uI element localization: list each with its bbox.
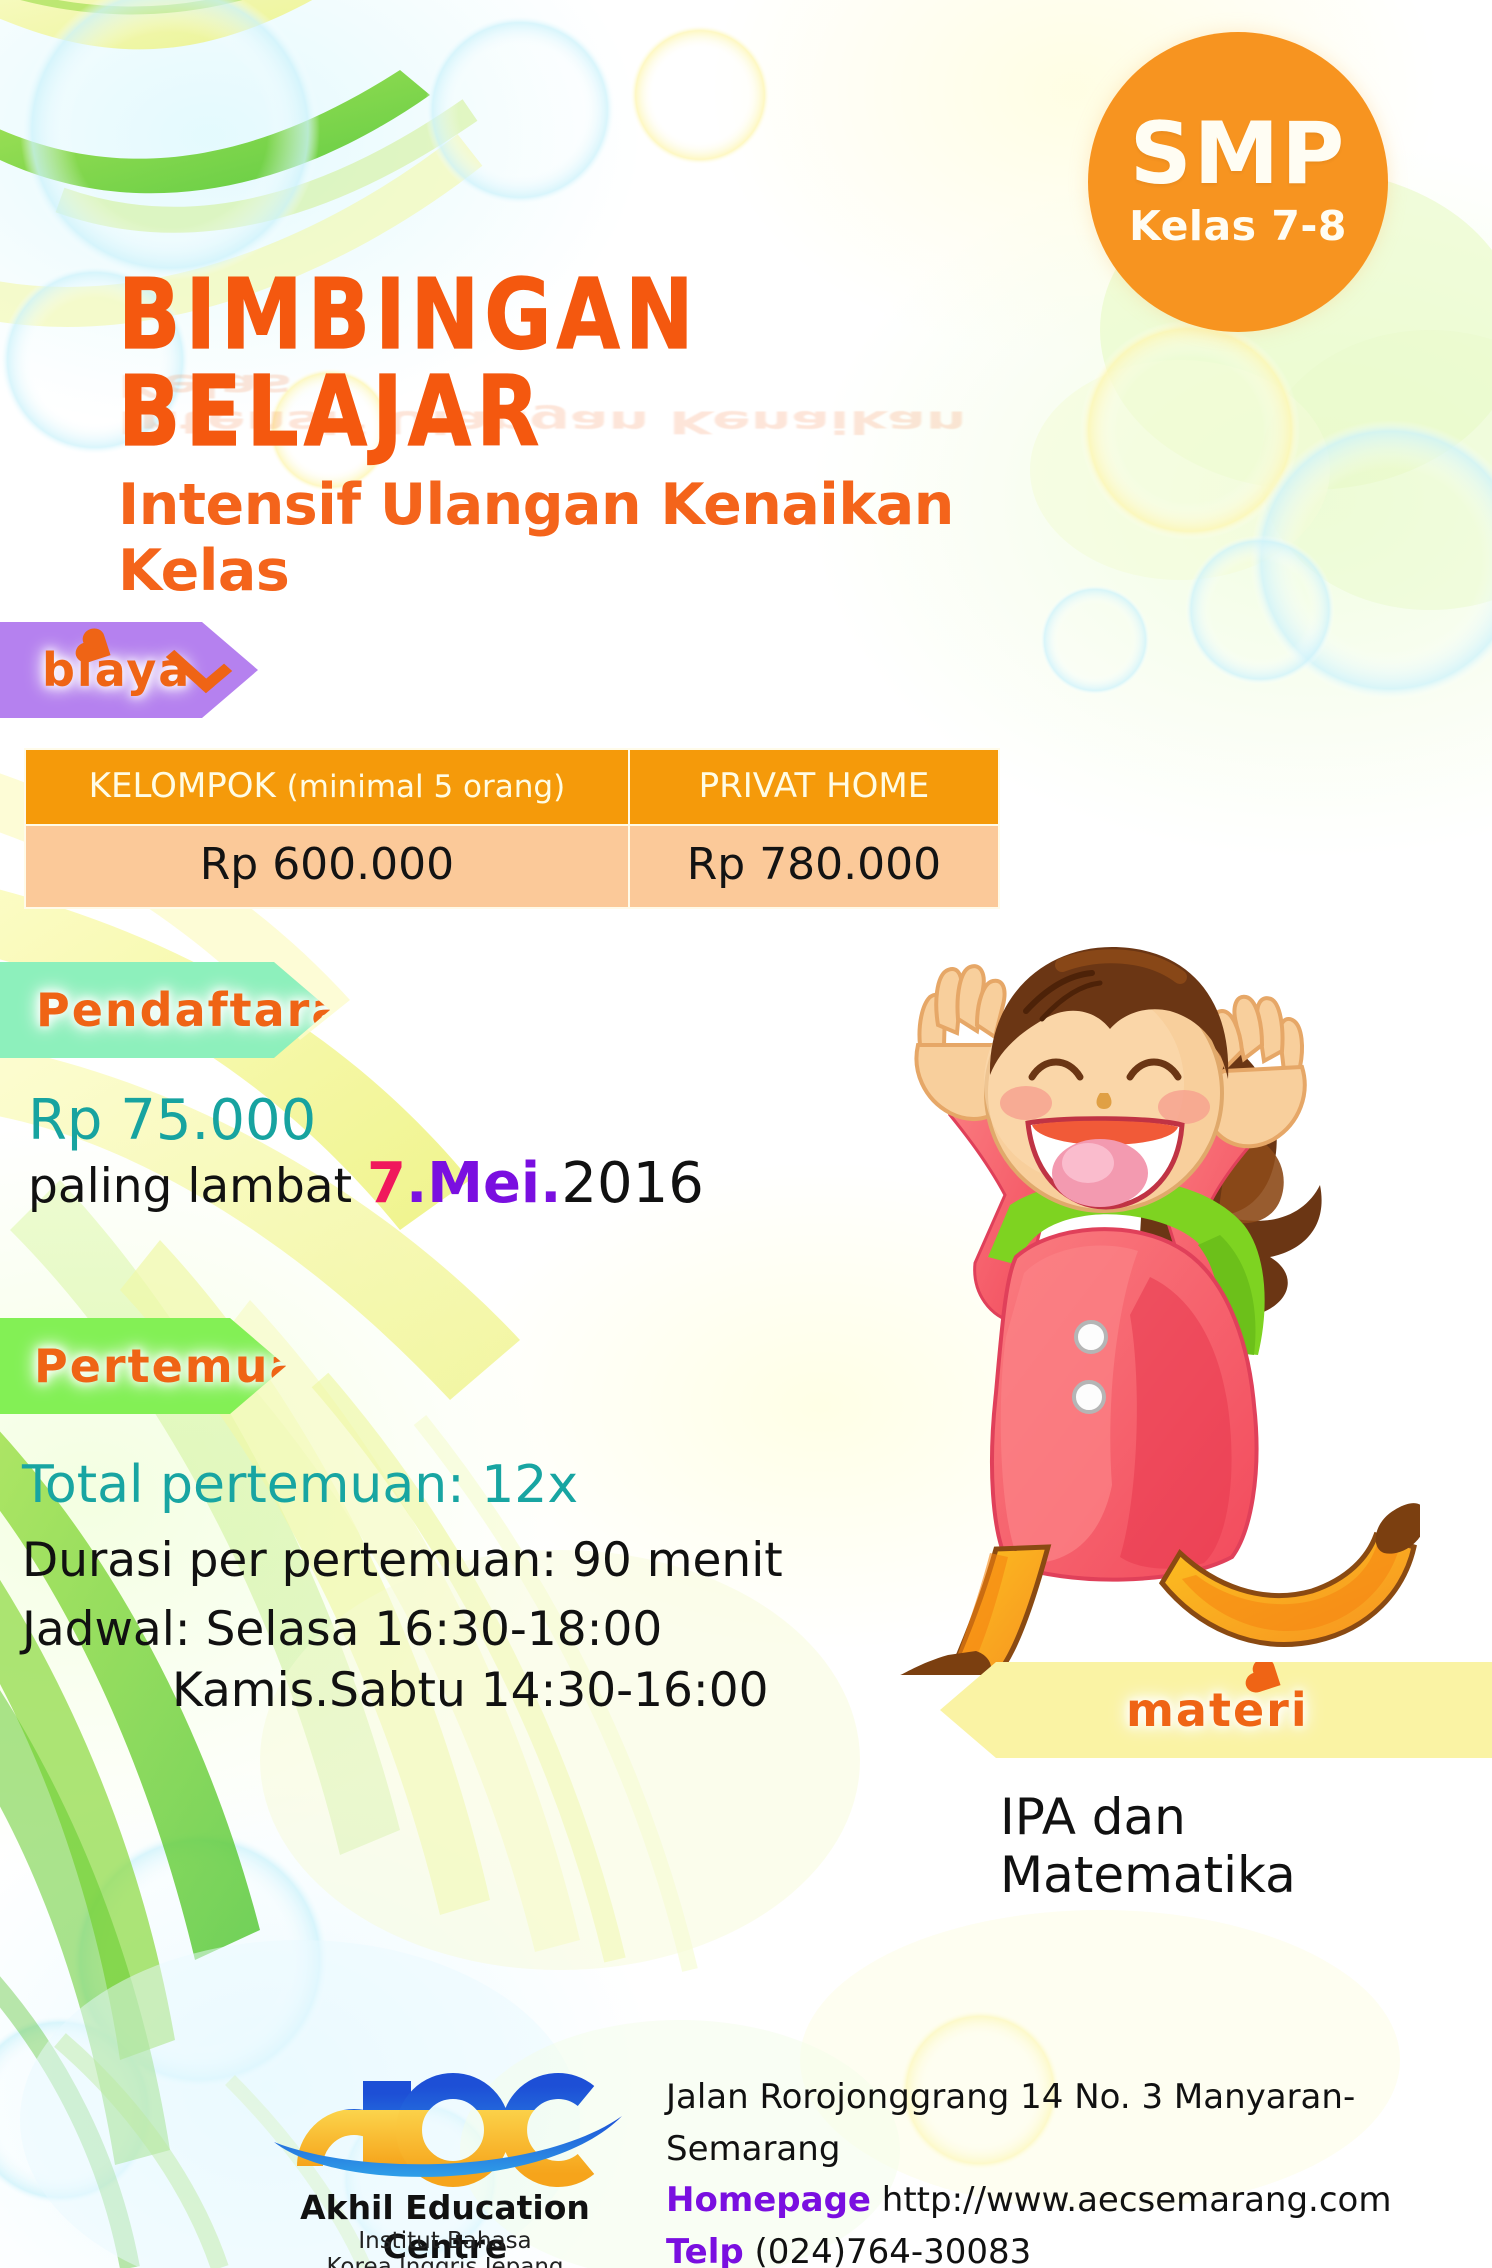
telp-label: Telp — [666, 2232, 744, 2268]
poster-canvas: SMP Kelas 7-8 Intensif Ulangan Kenaikan … — [0, 0, 1492, 2268]
page-title: BIMBINGAN BELAJAR — [118, 268, 1128, 462]
contact-block: Jalan Rorojonggrang 14 No. 3 Manyaran-Se… — [666, 2072, 1486, 2268]
deadline-prefix: paling lambat — [28, 1159, 352, 1214]
aec-logo: Akhil Education Centre Institut Bahasa K… — [250, 2048, 640, 2258]
badge-level-label: SMP — [1130, 114, 1347, 196]
pendaftaran-fee: Rp 75.000 — [28, 1092, 704, 1149]
aec-logo-mark — [250, 2048, 640, 2188]
badge-grade-label: Kelas 7-8 — [1129, 202, 1347, 250]
button-top — [1076, 1322, 1106, 1352]
column-header-kelompok: KELOMPOK (minimal 5 orang) — [25, 749, 629, 825]
table-header-row: KELOMPOK (minimal 5 orang) PRIVAT HOME — [25, 749, 999, 825]
contact-address: Jalan Rorojonggrang 14 No. 3 Manyaran-Se… — [666, 2072, 1486, 2175]
logo-tagline: Institut Bahasa Korea.Inggris.Jepang — [250, 2228, 640, 2268]
happy-girl-illustration — [800, 885, 1420, 1675]
homepage-label: Homepage — [666, 2180, 871, 2220]
right-blush — [1158, 1090, 1210, 1124]
section-banner-pendaftaran: Pendaftaran — [0, 962, 330, 1058]
kelompok-main: KELOMPOK — [89, 766, 276, 806]
pertemuan-details: Total pertemuan: 12x Durasi per pertemua… — [22, 1452, 783, 1721]
deadline-month: .Mei. — [406, 1151, 561, 1216]
materi-label-wrap: materi — [1126, 1683, 1309, 1737]
title-block: BIMBINGAN BELAJAR Intensif Ulangan Kenai… — [118, 268, 1128, 604]
homepage-value[interactable]: http://www.aecsemarang.com — [882, 2180, 1392, 2220]
deadline-day: 7 — [367, 1151, 406, 1216]
materi-label: materi — [1126, 1683, 1309, 1737]
kelompok-note: (minimal 5 orang) — [287, 769, 566, 805]
contact-telp: Telp (024)764-30083 — [666, 2227, 1486, 2268]
biaya-label: biaya — [42, 643, 191, 697]
price-kelompok: Rp 600.000 — [25, 825, 629, 908]
contact-homepage: Homepage http://www.aecsemarang.com — [666, 2175, 1486, 2227]
left-blush — [1000, 1086, 1052, 1120]
level-badge: SMP Kelas 7-8 — [1088, 32, 1388, 332]
button-bottom — [1074, 1382, 1104, 1412]
telp-value[interactable]: (024)764-30083 — [755, 2232, 1032, 2268]
section-banner-materi: materi — [940, 1662, 1492, 1758]
materi-value: IPA dan Matematika — [1000, 1788, 1492, 1904]
pendaftaran-deadline: paling lambat 7.Mei.2016 — [28, 1151, 704, 1216]
pertemuan-durasi: Durasi per pertemuan: 90 menit — [22, 1530, 783, 1591]
column-header-privat: PRIVAT HOME — [629, 749, 999, 825]
section-banner-pertemuan: Pertemuan — [0, 1318, 286, 1414]
pertemuan-total: Total pertemuan: 12x — [22, 1452, 783, 1520]
page-subtitle: Intensif Ulangan Kenaikan Kelas — [118, 472, 1128, 604]
deadline-year: 2016 — [561, 1151, 704, 1216]
biaya-label-wrap: biaya — [42, 643, 191, 697]
left-shoe — [900, 1651, 991, 1675]
pertemuan-jadwal-line1: Jadwal: Selasa 16:30-18:00 — [22, 1599, 783, 1660]
pendaftaran-details: Rp 75.000 paling lambat 7.Mei.2016 — [28, 1092, 704, 1216]
pertemuan-jadwal-line2: Kamis.Sabtu 14:30-16:00 — [172, 1660, 783, 1721]
